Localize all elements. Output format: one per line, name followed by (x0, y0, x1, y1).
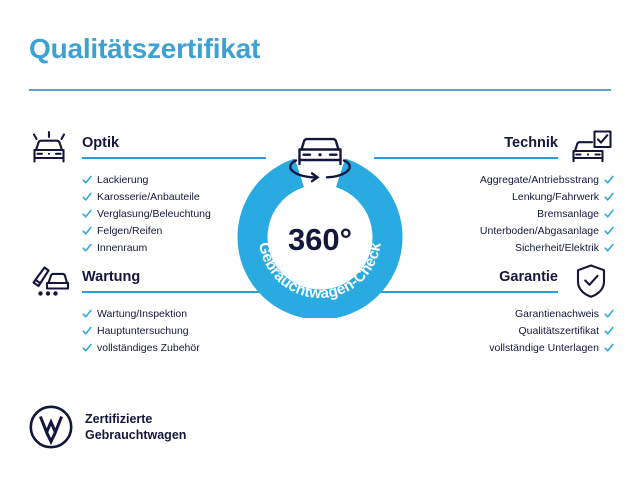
list-item-label: Felgen/Reifen (97, 226, 162, 237)
check-icon (604, 175, 614, 185)
list-item-label: Aggregate/Antriebsstrang (480, 175, 599, 186)
list-item-label: Karosserie/Anbauteile (97, 192, 200, 203)
list-item: vollständiges Zubehör (82, 340, 322, 357)
list-item-label: vollständige Unterlagen (489, 343, 599, 354)
check-icon (604, 243, 614, 253)
badge-center-label: 360° (288, 222, 352, 257)
list-item-label: Sicherheit/Elektrik (515, 243, 599, 254)
list-item: Lenkung/Fahrwerk (512, 189, 614, 206)
list-item-label: Verglasung/Beleuchtung (97, 209, 211, 220)
list-item-label: Unterboden/Abgasanlage (480, 226, 599, 237)
list-item-label: vollständiges Zubehör (97, 343, 200, 354)
list-item: Sicherheit/Elektrik (515, 240, 614, 257)
list-item-label: Hauptuntersuchung (97, 326, 189, 337)
list-item: Qualitätszertifikat (518, 323, 614, 340)
list-item: Bremsanlage (537, 206, 614, 223)
list-item-label: Bremsanlage (537, 209, 599, 220)
list-item-label: Innenraum (97, 243, 147, 254)
section-garantie-list: Garantienachweis Qualitätszertifikat vol… (374, 306, 640, 357)
page-title: Qualitätszertifikat (29, 35, 260, 63)
car-rotate-icon (290, 139, 349, 181)
badge-360-gebrauchtwagen-check: 360° Gebrauchtwagen-Check (228, 122, 412, 318)
list-item: vollständige Unterlagen (489, 340, 614, 357)
footer-brand: Zertifizierte Gebrauchtwagen (29, 405, 186, 449)
vw-logo-icon (29, 405, 73, 449)
check-icon (604, 343, 614, 353)
check-icon (604, 309, 614, 319)
list-item-label: Lackierung (97, 175, 148, 186)
car-shine-icon (26, 128, 72, 166)
title-divider (29, 89, 611, 91)
check-icon (82, 343, 92, 353)
check-icon (604, 209, 614, 219)
wrench-car-icon (26, 262, 72, 300)
check-icon (82, 175, 92, 185)
check-icon (82, 226, 92, 236)
list-item-label: Lenkung/Fahrwerk (512, 192, 599, 203)
check-icon (604, 192, 614, 202)
check-icon (604, 326, 614, 336)
check-icon (82, 309, 92, 319)
list-item-label: Qualitätszertifikat (518, 326, 599, 337)
list-item-label: Wartung/Inspektion (97, 309, 187, 320)
check-icon (82, 209, 92, 219)
list-item: Unterboden/Abgasanlage (480, 223, 614, 240)
car-checkbox-icon (568, 128, 614, 166)
list-item: Aggregate/Antriebsstrang (480, 172, 614, 189)
list-item-label: Garantienachweis (515, 309, 599, 320)
check-icon (82, 326, 92, 336)
footer-brand-text: Zertifizierte Gebrauchtwagen (85, 411, 186, 444)
check-icon (604, 226, 614, 236)
check-icon (82, 192, 92, 202)
list-item: Garantienachweis (515, 306, 614, 323)
shield-check-icon (568, 262, 614, 300)
list-item: Hauptuntersuchung (82, 323, 322, 340)
section-technik-list: Aggregate/Antriebsstrang Lenkung/Fahrwer… (374, 172, 640, 256)
check-icon (82, 243, 92, 253)
